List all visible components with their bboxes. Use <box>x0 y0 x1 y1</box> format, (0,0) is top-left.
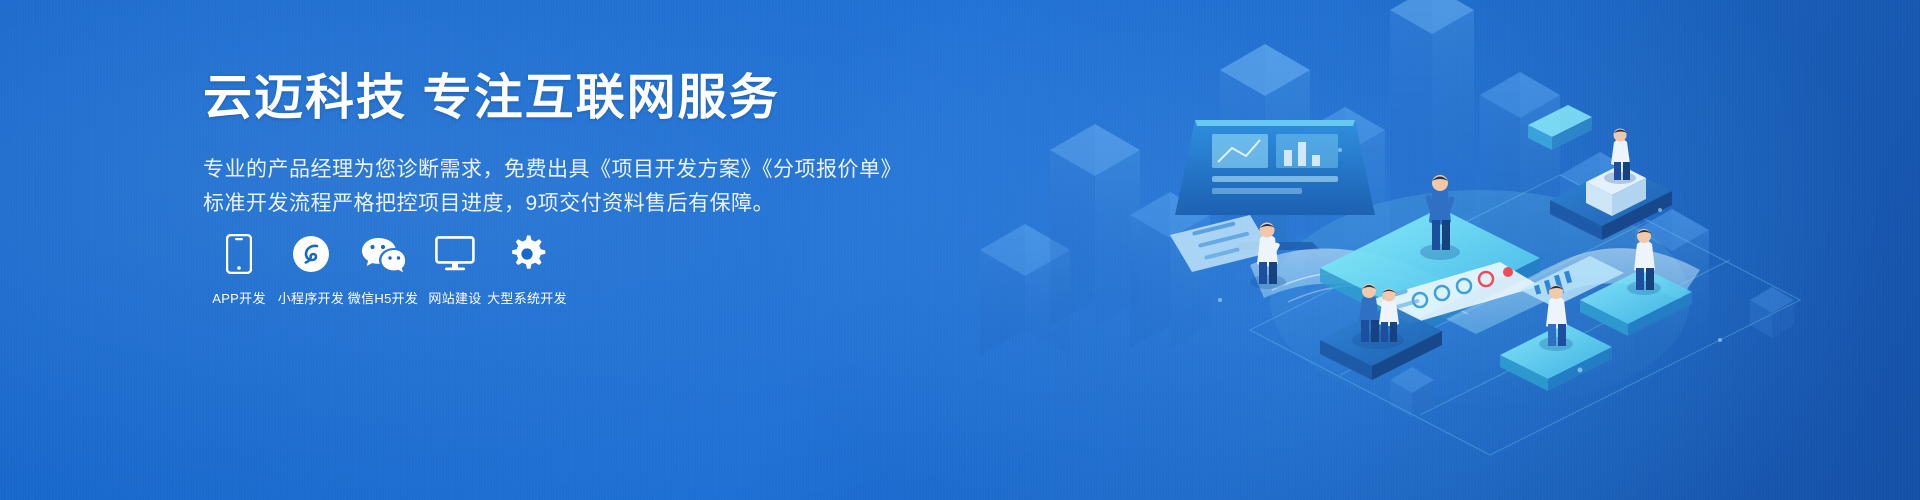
service-item-app[interactable]: APP开发 <box>203 232 275 307</box>
front-left-platform <box>1320 305 1442 380</box>
mobile-phone-icon <box>226 232 252 276</box>
person-seated-right-upper <box>1604 129 1636 185</box>
central-platform <box>1320 208 1540 332</box>
alert-dot <box>1503 267 1513 277</box>
person-standing-right-lower <box>1627 229 1661 295</box>
document-sheets <box>1170 215 1272 272</box>
promo-banner: 云迈科技 专注互联网服务 专业的产品经理为您诊断需求，免费出具《项目开发方案》《… <box>0 0 1920 500</box>
service-item-wechat-h5[interactable]: 微信H5开发 <box>347 232 419 307</box>
service-label: 小程序开发 <box>278 288 345 307</box>
sparkles <box>1218 148 1722 373</box>
gear-icon <box>507 232 547 276</box>
banner-content: 云迈科技 专注互联网服务 专业的产品经理为您诊断需求，免费出具《项目开发方案》《… <box>203 70 923 221</box>
banner-subtitle: 专业的产品经理为您诊断需求，免费出具《项目开发方案》《分项报价单》 标准开发流程… <box>203 153 923 221</box>
wechat-icon <box>361 232 405 276</box>
background-towers <box>980 0 1794 418</box>
dashboard-screen <box>1175 120 1375 250</box>
service-item-website[interactable]: 网站建设 <box>419 232 491 307</box>
subtitle-line-2: 标准开发流程严格把控项目进度，9项交付资料售后有保障。 <box>203 187 923 221</box>
page-title: 云迈科技 专注互联网服务 <box>203 70 923 127</box>
floating-chart-card <box>1520 256 1624 307</box>
service-label: 微信H5开发 <box>348 288 418 307</box>
service-item-miniprogram[interactable]: 小程序开发 <box>275 232 347 307</box>
person-pair-front-left <box>1352 284 1404 349</box>
service-label: 大型系统开发 <box>487 288 567 307</box>
data-flow-sheet <box>1250 248 1700 334</box>
person-seated-left <box>1250 223 1286 290</box>
ground-grid <box>1250 175 1800 455</box>
floating-tag <box>1528 105 1592 150</box>
person-standing-center <box>1420 175 1460 260</box>
service-label: 网站建设 <box>428 288 481 307</box>
person-front-right <box>1539 285 1573 351</box>
service-item-large-system[interactable]: 大型系统开发 <box>491 232 563 307</box>
right-platform-upper <box>1550 165 1672 240</box>
service-label: APP开发 <box>212 288 266 307</box>
right-platform-lower <box>1580 268 1692 336</box>
front-right-platform <box>1500 323 1612 391</box>
metrics-card <box>1370 262 1540 324</box>
subtitle-line-1: 专业的产品经理为您诊断需求，免费出具《项目开发方案》《分项报价单》 <box>203 153 923 187</box>
mini-program-icon <box>291 232 331 276</box>
isometric-illustration <box>920 0 1920 500</box>
monitor-icon <box>435 232 475 276</box>
service-icon-row: APP开发 小程序开发 <box>203 232 563 307</box>
